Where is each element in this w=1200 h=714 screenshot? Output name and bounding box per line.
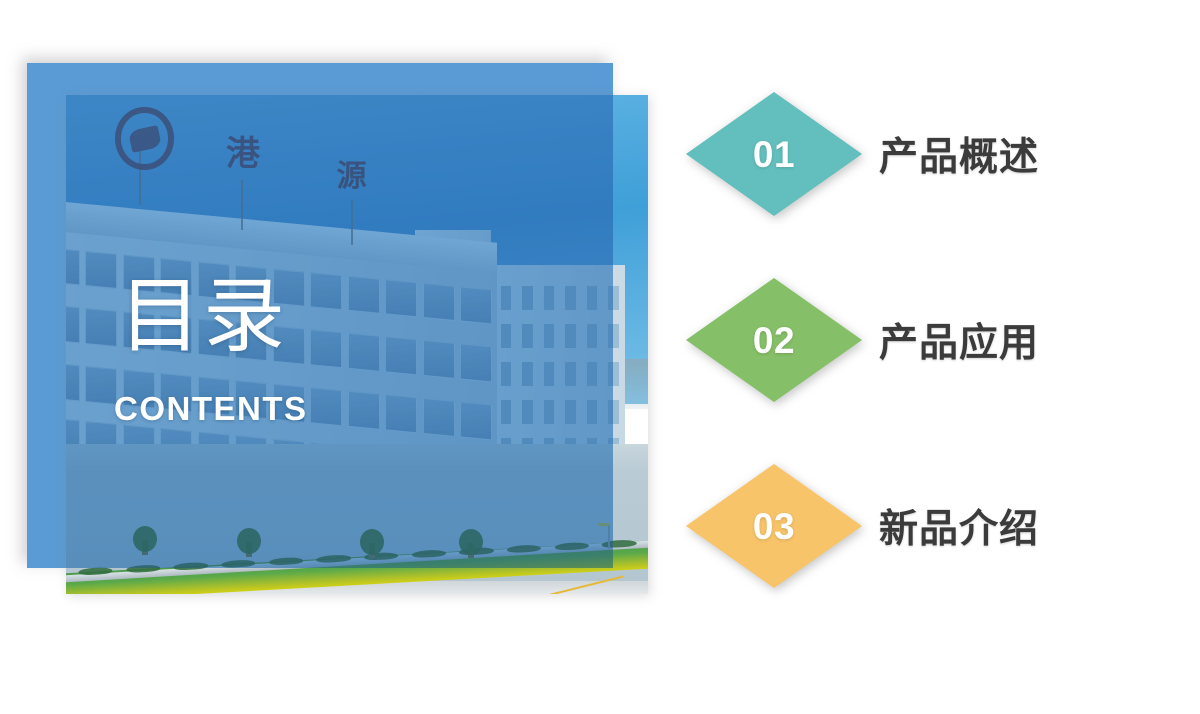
slide-canvas: 港 源: [0, 0, 1200, 714]
diamond-badge-2[interactable]: 02: [686, 278, 862, 402]
table-of-contents: 01 产品概述 02 产品应用 03 新品介绍: [686, 0, 1200, 714]
diamond-shape: 02: [686, 278, 862, 402]
toc-number: 02: [753, 322, 795, 359]
toc-label[interactable]: 产品概述: [879, 92, 1039, 216]
title-block: 目录 CONTENTS: [0, 0, 700, 714]
page-title: 目录: [119, 276, 287, 358]
contents-visual-block: 港 源: [0, 0, 700, 714]
diamond-badge-1[interactable]: 01: [686, 92, 862, 216]
diamond-shape: 01: [686, 92, 862, 216]
toc-label[interactable]: 产品应用: [879, 278, 1039, 402]
toc-item-3[interactable]: 03 新品介绍: [686, 464, 1200, 588]
diamond-shape: 03: [686, 464, 862, 588]
page-subtitle: CONTENTS: [114, 390, 308, 428]
toc-number: 03: [753, 508, 795, 545]
toc-item-1[interactable]: 01 产品概述: [686, 92, 1200, 216]
toc-label[interactable]: 新品介绍: [879, 464, 1039, 588]
toc-item-2[interactable]: 02 产品应用: [686, 278, 1200, 402]
diamond-badge-3[interactable]: 03: [686, 464, 862, 588]
toc-number: 01: [753, 136, 795, 173]
